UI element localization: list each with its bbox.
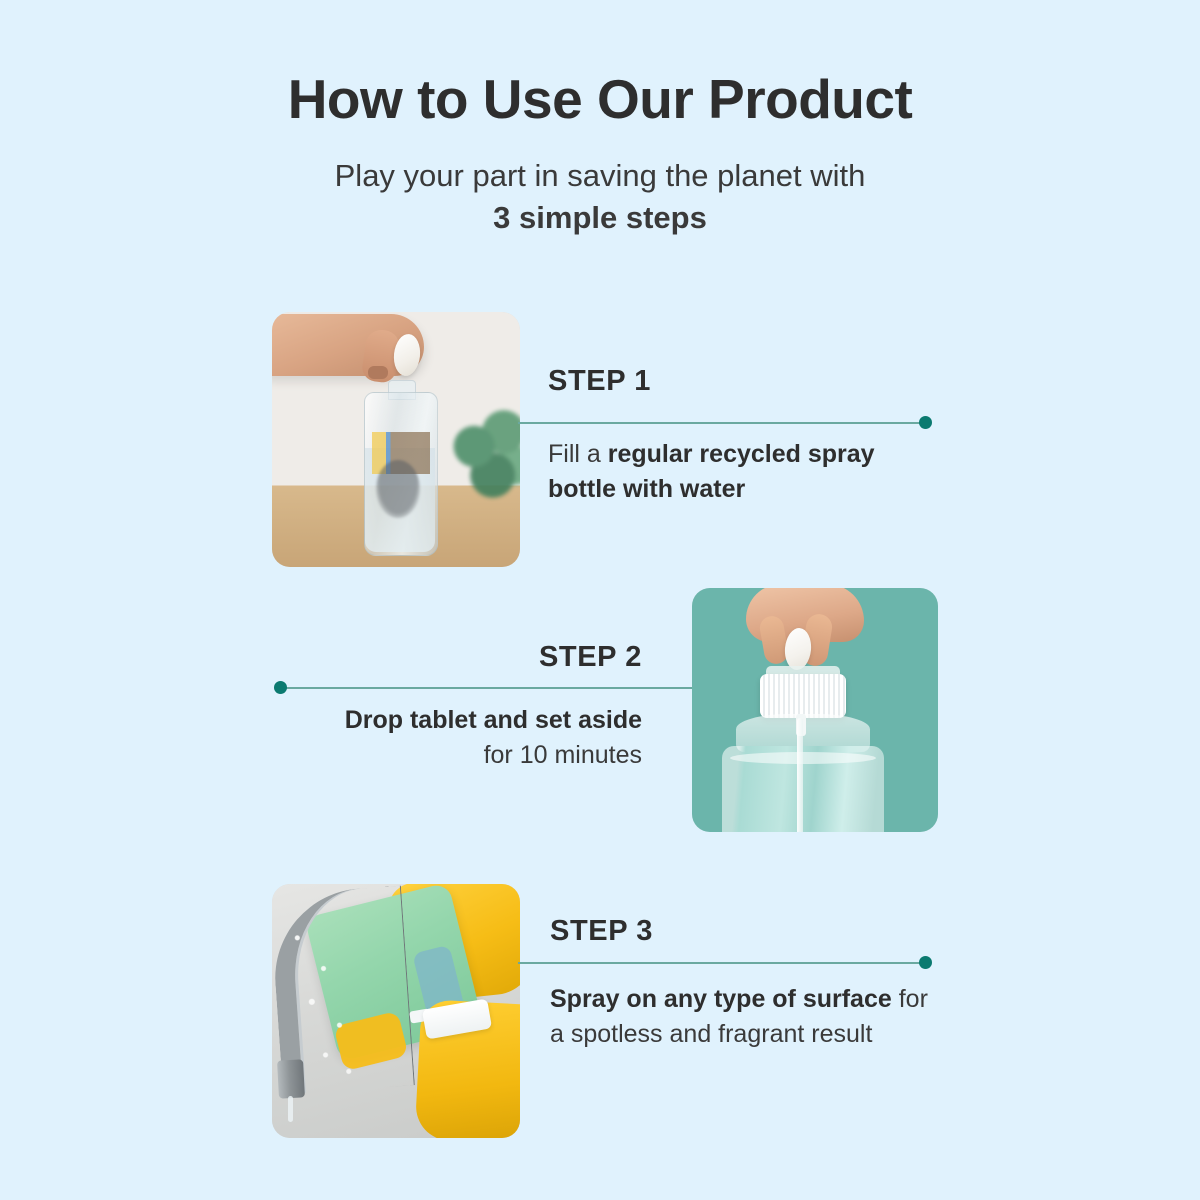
step-1-photo: [272, 312, 520, 567]
step-1-connector-dot: [919, 416, 932, 429]
page-title: How to Use Our Product: [0, 72, 1200, 127]
infographic-page: How to Use Our Product Play your part in…: [0, 0, 1200, 1200]
spray-cap-icon: [760, 674, 846, 718]
step-1-connector-line: [518, 422, 926, 424]
step-3-connector-dot: [919, 956, 932, 969]
step-1-image-card: [272, 312, 520, 567]
step-2-desc-bold: Drop tablet and set aside: [345, 706, 642, 734]
step-2-connector-line: [286, 687, 692, 689]
step-2-connector-dot: [274, 681, 287, 694]
step-2-label: STEP 2: [262, 641, 642, 674]
thumbnail-icon: [368, 366, 388, 379]
step-3-description: Spray on any type of surface for a spotl…: [550, 982, 930, 1051]
subtitle-line-1: Play your part in saving the planet with: [335, 158, 866, 193]
header: How to Use Our Product Play your part in…: [0, 72, 1200, 239]
step-3-image-card: [272, 884, 520, 1138]
step-2-image-card: [692, 588, 938, 832]
step-3-connector-line: [518, 962, 926, 964]
plant-icon: [452, 408, 520, 504]
liquid-line-icon: [730, 752, 876, 764]
step-1-desc-regular: Fill a: [548, 440, 608, 468]
straw-icon: [797, 718, 803, 832]
step-1-description: Fill a regular recycled spray bottle wit…: [548, 437, 948, 506]
step-3-label: STEP 3: [550, 915, 653, 948]
step-2-description: Drop tablet and set aside for 10 minutes: [242, 703, 642, 772]
water-drip-icon: [288, 1096, 293, 1122]
fizz-icon: [376, 460, 420, 518]
step-3-photo: [272, 884, 520, 1138]
water-droplets-icon: [276, 911, 388, 1098]
page-subtitle: Play your part in saving the planet with…: [0, 155, 1200, 239]
step-2-desc-regular: for 10 minutes: [484, 741, 642, 769]
step-2-photo: [692, 588, 938, 832]
step-3-desc-bold: Spray on any type of surface: [550, 985, 892, 1013]
step-1-label: STEP 1: [548, 365, 651, 398]
subtitle-line-2: 3 simple steps: [493, 200, 707, 235]
